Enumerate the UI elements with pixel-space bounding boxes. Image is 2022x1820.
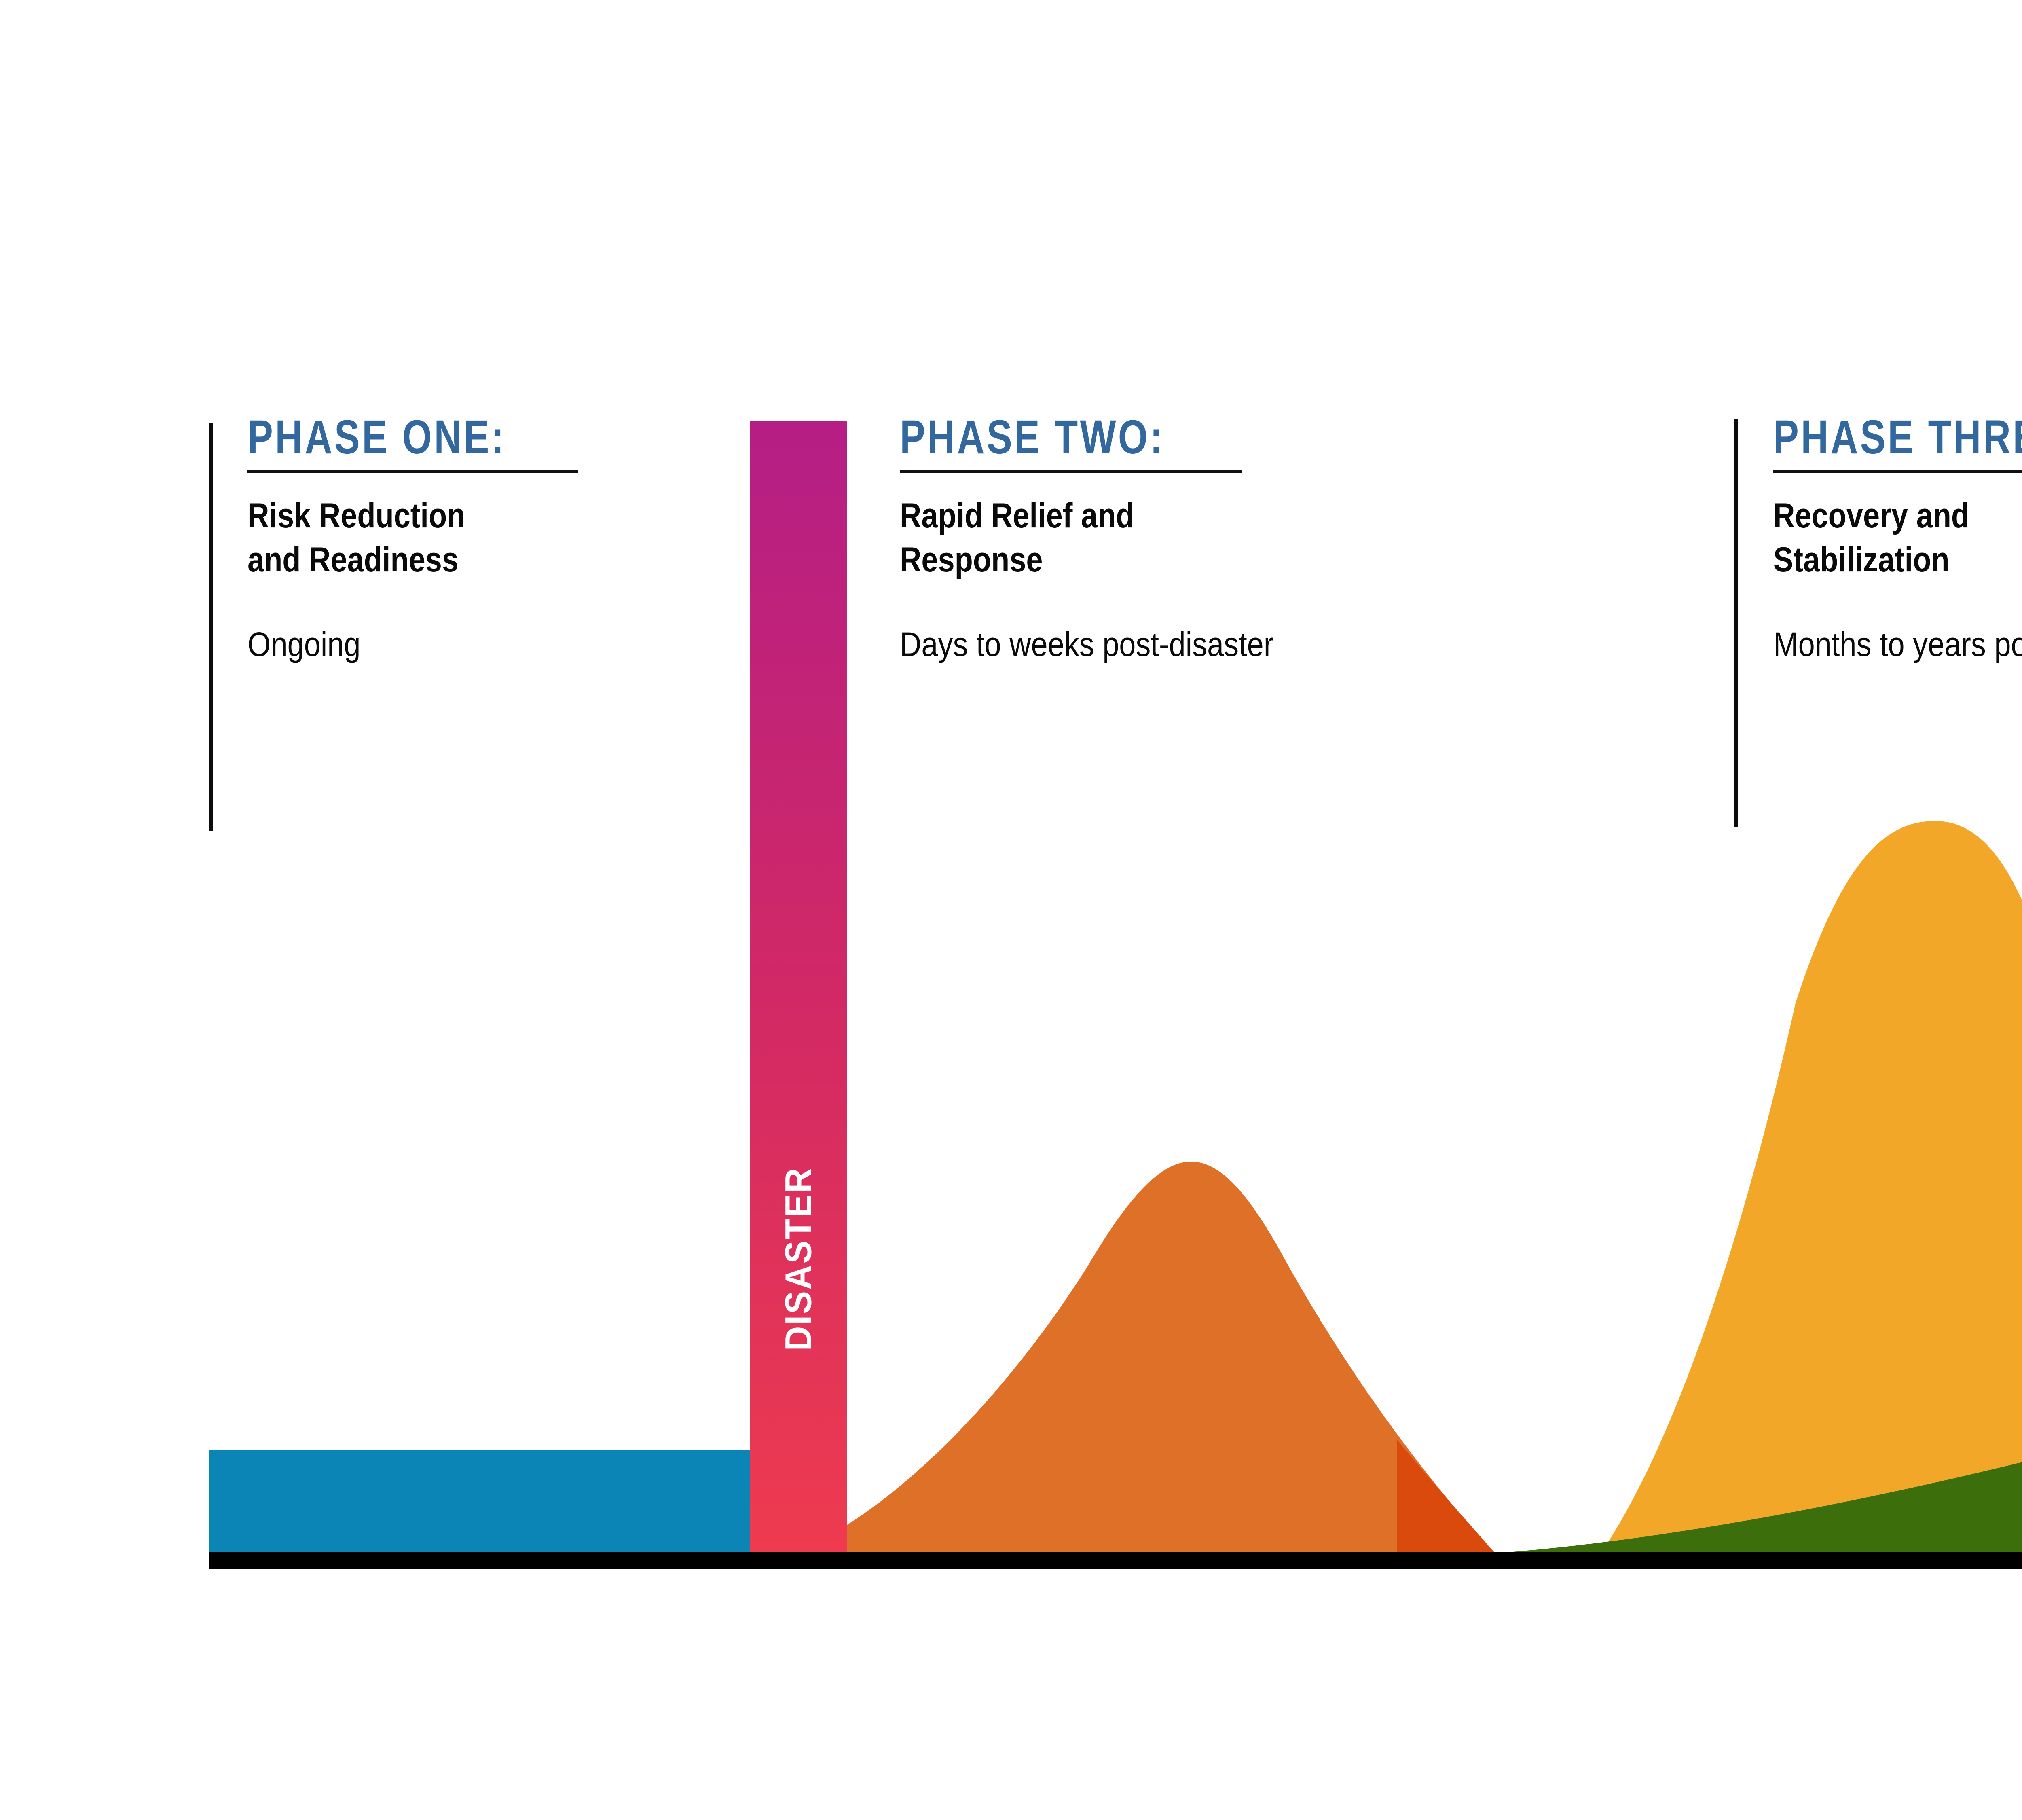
phase-three-title-underline	[1773, 470, 2022, 473]
disaster-marker-bar	[750, 421, 847, 1552]
phase-two-title-underline	[900, 470, 1242, 473]
infographic-canvas: DISASTER PHASE ONE: Risk Reduction and R…	[0, 0, 2022, 1820]
phase-three-name: Recovery and Stabilization	[1773, 494, 2022, 582]
phase-two-timeframe: Days to weeks post-disaster	[900, 626, 1576, 663]
phase-three-column: PHASE THREE: Recovery and Stabilization …	[1773, 413, 2022, 663]
disaster-phases-area-chart	[0, 0, 2022, 1820]
phase-one-divider	[209, 423, 213, 831]
phase-three-divider	[1734, 419, 1738, 827]
phase-one-name: Risk Reduction and Readiness	[247, 494, 658, 582]
phase-two-eyebrow: PHASE TWO:	[900, 413, 1514, 461]
phase-three-eyebrow: PHASE THREE:	[1773, 413, 2022, 461]
phase-two-column: PHASE TWO: Rapid Relief and Response Day…	[900, 413, 1668, 663]
phase-three-timeframe: Months to years post-disaster	[1773, 626, 2022, 663]
phase-one-column: PHASE ONE: Risk Reduction and Readiness …	[247, 413, 725, 663]
phase-one-timeframe: Ongoing	[247, 626, 667, 663]
chart-baseline	[209, 1552, 2022, 1569]
disaster-marker-label: DISASTER	[778, 1158, 820, 1359]
phase-one-title-underline	[247, 470, 578, 473]
phase-one-eyebrow: PHASE ONE:	[247, 413, 629, 461]
series-recovery-area	[1397, 821, 2022, 1552]
phase-two-name: Rapid Relief and Response	[900, 494, 1561, 582]
